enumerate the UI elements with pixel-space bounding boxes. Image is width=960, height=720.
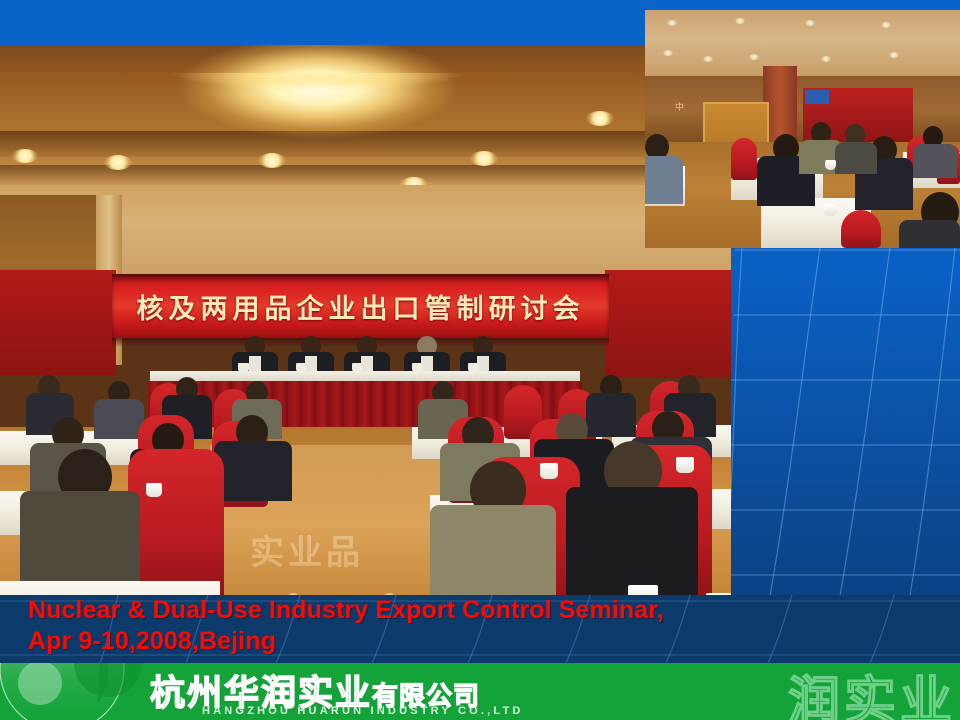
- caption-text-block: Nuclear & Dual-Use Industry Export Contr…: [28, 595, 664, 657]
- panelist: [288, 336, 334, 376]
- audience-photo-top-right: 中: [645, 10, 960, 248]
- tr-downlight: [667, 20, 677, 26]
- tr-downlight: [663, 50, 673, 56]
- downlight: [258, 153, 286, 168]
- footer-green-band: 润实业 杭州华润实业有限公司 HANGZHOU HUARUN INDUSTRY …: [0, 663, 960, 720]
- downlight: [12, 149, 38, 163]
- seminar-banner-text: 核及两用品企业出口管制研讨会: [137, 287, 585, 326]
- slide-canvas: 核及两用品企业出口管制研讨会: [0, 0, 960, 720]
- panelist: [460, 336, 506, 376]
- red-wall-panel-right: [605, 270, 731, 378]
- tr-downlight: [703, 56, 713, 62]
- tr-wall-logo: 中: [675, 100, 719, 114]
- tr-projection-screen: [805, 90, 829, 104]
- tr-downlight: [889, 52, 899, 58]
- audience-chair: [128, 449, 224, 596]
- tr-attendee-body: [835, 142, 877, 174]
- company-logo: 杭州华润实业有限公司 HANGZHOU HUARUN INDUSTRY CO.,…: [150, 665, 670, 720]
- seminar-red-banner: 核及两用品企业出口管制研讨会: [112, 274, 609, 338]
- downlight: [470, 151, 498, 166]
- attendee-body: [586, 393, 636, 437]
- audience-table: [0, 581, 220, 596]
- caption-band: Nuclear & Dual-Use Industry Export Contr…: [0, 595, 960, 663]
- tr-mug: [823, 204, 837, 216]
- downlight: [104, 155, 132, 170]
- red-wall-panel-left: [0, 270, 116, 375]
- tr-attendee-body: [645, 156, 683, 204]
- company-logo-english: HANGZHOU HUARUN INDUSTRY CO.,LTD: [202, 705, 524, 717]
- coffee-mug: [676, 457, 694, 473]
- attendee-body: [94, 399, 144, 439]
- tr-downlight: [735, 18, 745, 24]
- tr-downlight: [821, 56, 831, 62]
- attendee-body: [430, 505, 556, 596]
- caption-line-1: Nuclear & Dual-Use Industry Export Contr…: [28, 595, 664, 626]
- tr-chair: [731, 138, 757, 180]
- tr-downlight: [749, 54, 759, 60]
- panelist: [344, 336, 390, 376]
- downlight: [586, 111, 614, 126]
- tr-attendee-body: [913, 144, 957, 178]
- attendee-body: [214, 441, 292, 501]
- tr-attendee-body: [899, 220, 960, 248]
- coffee-mug: [540, 463, 558, 479]
- tr-ceiling: [645, 10, 960, 82]
- coffee-mug: [146, 483, 162, 497]
- tr-chair: [841, 210, 881, 248]
- tr-downlight: [881, 22, 891, 28]
- panelist: [404, 336, 450, 376]
- tr-mug: [825, 160, 836, 170]
- attendee-body: [566, 487, 698, 596]
- main-conference-photo: 核及两用品企业出口管制研讨会: [0, 45, 731, 596]
- caption-line-2: Apr 9-10,2008,Bejing: [28, 626, 664, 657]
- tr-downlight: [805, 20, 815, 26]
